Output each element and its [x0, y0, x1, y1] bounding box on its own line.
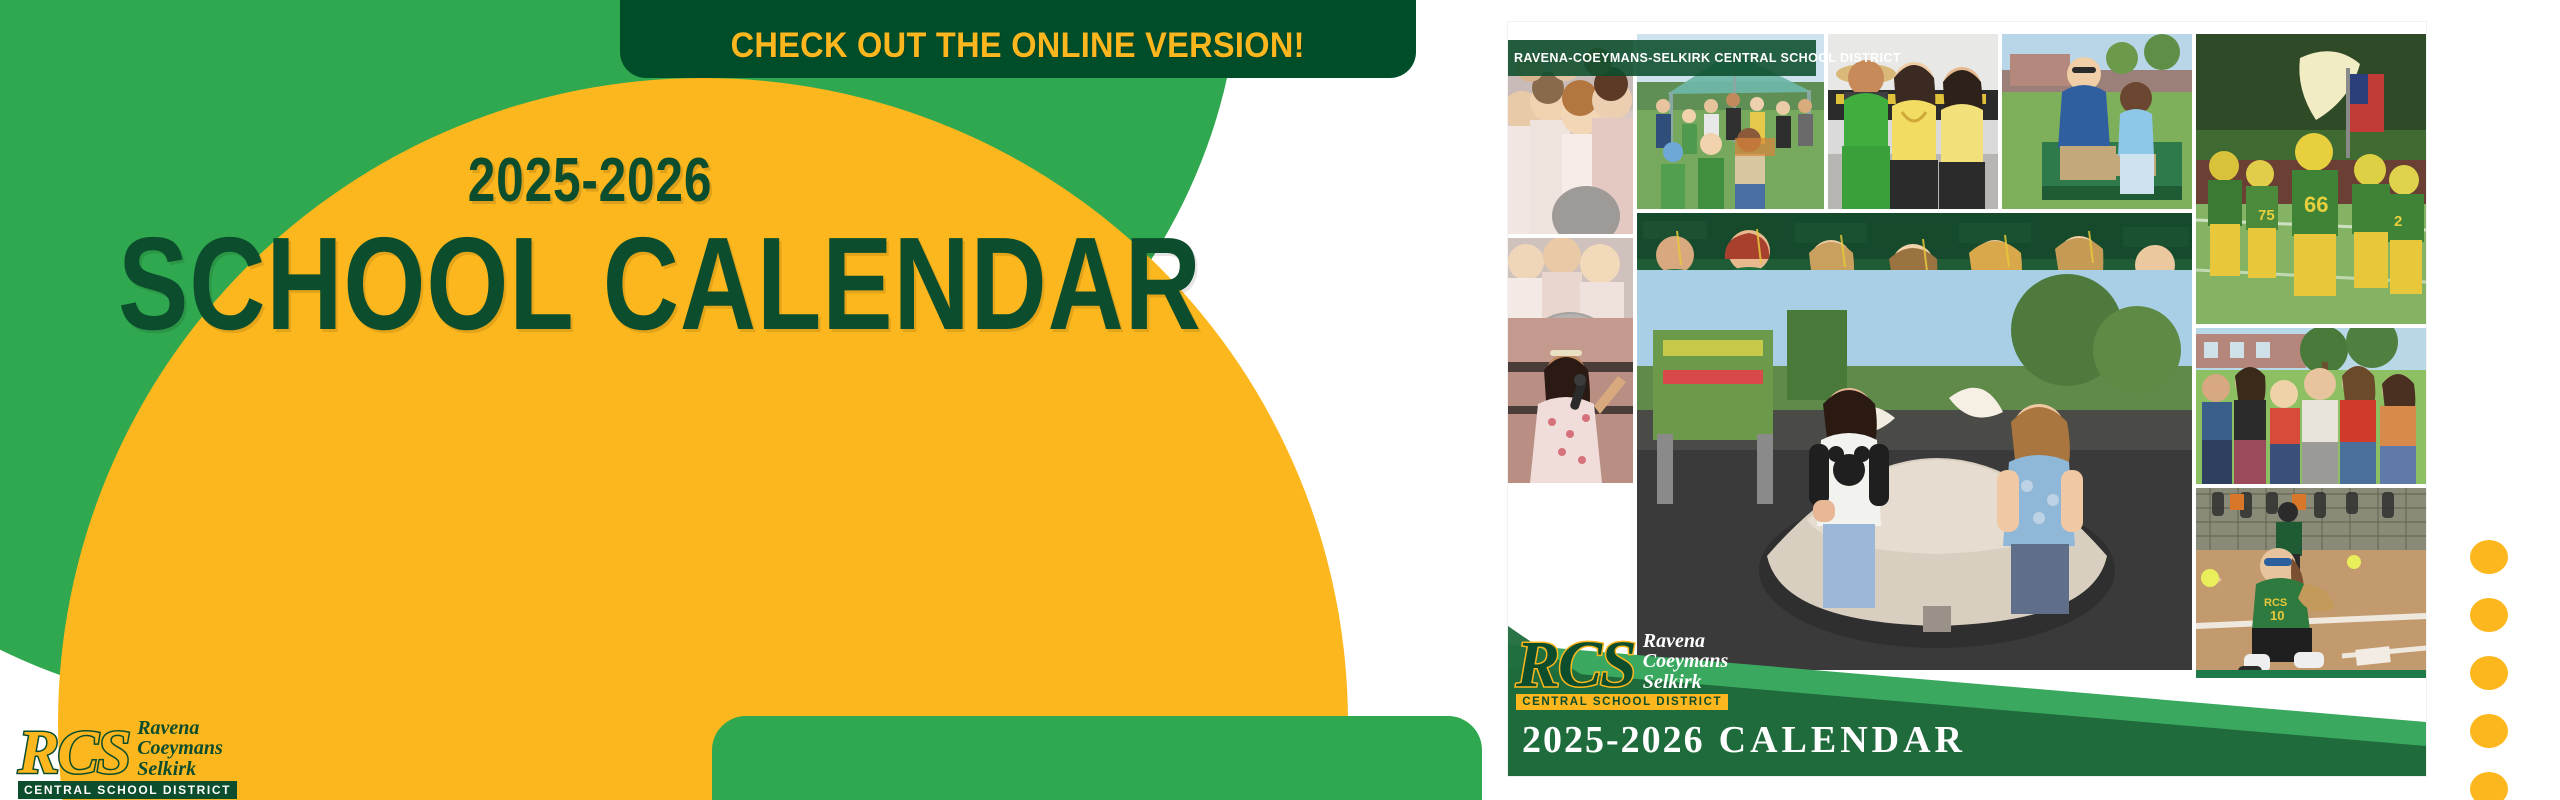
cover-footer-title: 2025-2026CALENDAR [1522, 718, 1966, 762]
rcs-word-selkirk: Selkirk [137, 758, 196, 780]
cover-district-header-text: RAVENA-COEYMANS-SELKIRK CENTRAL SCHOOL D… [1514, 51, 1901, 65]
promo-banner-canvas: CHECK OUT THE ONLINE VERSION! 2025-2026 … [0, 0, 2560, 800]
cover-footer-years: 2025-2026 [1522, 719, 1705, 761]
calendar-cover-image[interactable]: RAVENA-COEYMANS-SELKIRK CENTRAL SCHOOL D… [1508, 22, 2426, 776]
svg-text:10: 10 [2270, 608, 2284, 623]
photo-art-playground [1637, 270, 2192, 670]
carousel-dot-5[interactable] [2470, 772, 2508, 800]
svg-text:75: 75 [2258, 207, 2275, 224]
promo-title-years: 2025-2026 [118, 150, 1062, 212]
rcs-district-logo: RCS Ravena Coeymans Selkirk CENTRAL SCHO… [18, 718, 237, 799]
rcs-word-coeymans: Coeymans [137, 737, 223, 759]
carousel-dot-1[interactable] [2470, 540, 2508, 574]
rcs-district-label: CENTRAL SCHOOL DISTRICT [18, 781, 237, 799]
cover-rcs-word-ravena: Ravena [1643, 630, 1705, 652]
rcs-monogram: RCS [18, 728, 129, 779]
cover-district-header: RAVENA-COEYMANS-SELKIRK CENTRAL SCHOOL D… [1508, 40, 1816, 76]
carousel-dot-2[interactable] [2470, 598, 2508, 632]
calendar-cover-inner: RAVENA-COEYMANS-SELKIRK CENTRAL SCHOOL D… [1508, 22, 2426, 776]
decorative-green-rounded-rect [712, 716, 1482, 800]
cover-rcs-word-coeymans: Coeymans [1643, 650, 1729, 672]
promo-title-block: 2025-2026 SCHOOL CALENDAR [0, 150, 1180, 350]
rcs-logo-row: RCS Ravena Coeymans Selkirk [18, 718, 237, 779]
online-version-banner[interactable]: CHECK OUT THE ONLINE VERSION! [620, 0, 1416, 78]
photo-art-students-bench [2196, 328, 2426, 484]
rcs-wordmark: Ravena Coeymans Selkirk [137, 718, 223, 779]
promo-title-main: SCHOOL CALENDAR [118, 218, 1062, 350]
photo-student-singing-into-microphone [1508, 318, 1633, 483]
cover-rcs-monogram: RCS [1516, 638, 1635, 692]
cover-rcs-logo-row: RCS Ravena Coeymans Selkirk [1516, 631, 1728, 692]
cover-rcs-wordmark: Ravena Coeymans Selkirk [1643, 631, 1729, 692]
cover-rcs-district-logo: RCS Ravena Coeymans Selkirk CENTRAL SCHO… [1516, 631, 1728, 710]
carousel-dot-3[interactable] [2470, 656, 2508, 690]
photo-art-bench [2002, 34, 2192, 209]
photo-art-football: 66 75 2 [2196, 34, 2426, 324]
photo-group-of-students-on-bench-outdoors [2196, 328, 2426, 484]
online-version-banner-label: CHECK OUT THE ONLINE VERSION! [731, 26, 1305, 66]
cover-rcs-word-selkirk: Selkirk [1643, 671, 1702, 693]
photo-staff-member-with-student-on-bench [2002, 34, 2192, 209]
photo-art-singer [1508, 318, 1633, 483]
rcs-word-ravena: Ravena [137, 717, 199, 739]
photo-football-team-running-with-flag: 66 75 2 [2196, 34, 2426, 324]
svg-text:2: 2 [2394, 213, 2402, 230]
svg-text:66: 66 [2304, 192, 2328, 217]
cover-footer-word: CALENDAR [1719, 719, 1966, 761]
cover-rcs-district-label: CENTRAL SCHOOL DISTRICT [1516, 694, 1728, 710]
promo-left-panel: CHECK OUT THE ONLINE VERSION! 2025-2026 … [0, 0, 1490, 800]
photo-children-on-playground-merry-go-round [1637, 270, 2192, 670]
carousel-dots[interactable] [2470, 540, 2526, 800]
carousel-dot-4[interactable] [2470, 714, 2508, 748]
